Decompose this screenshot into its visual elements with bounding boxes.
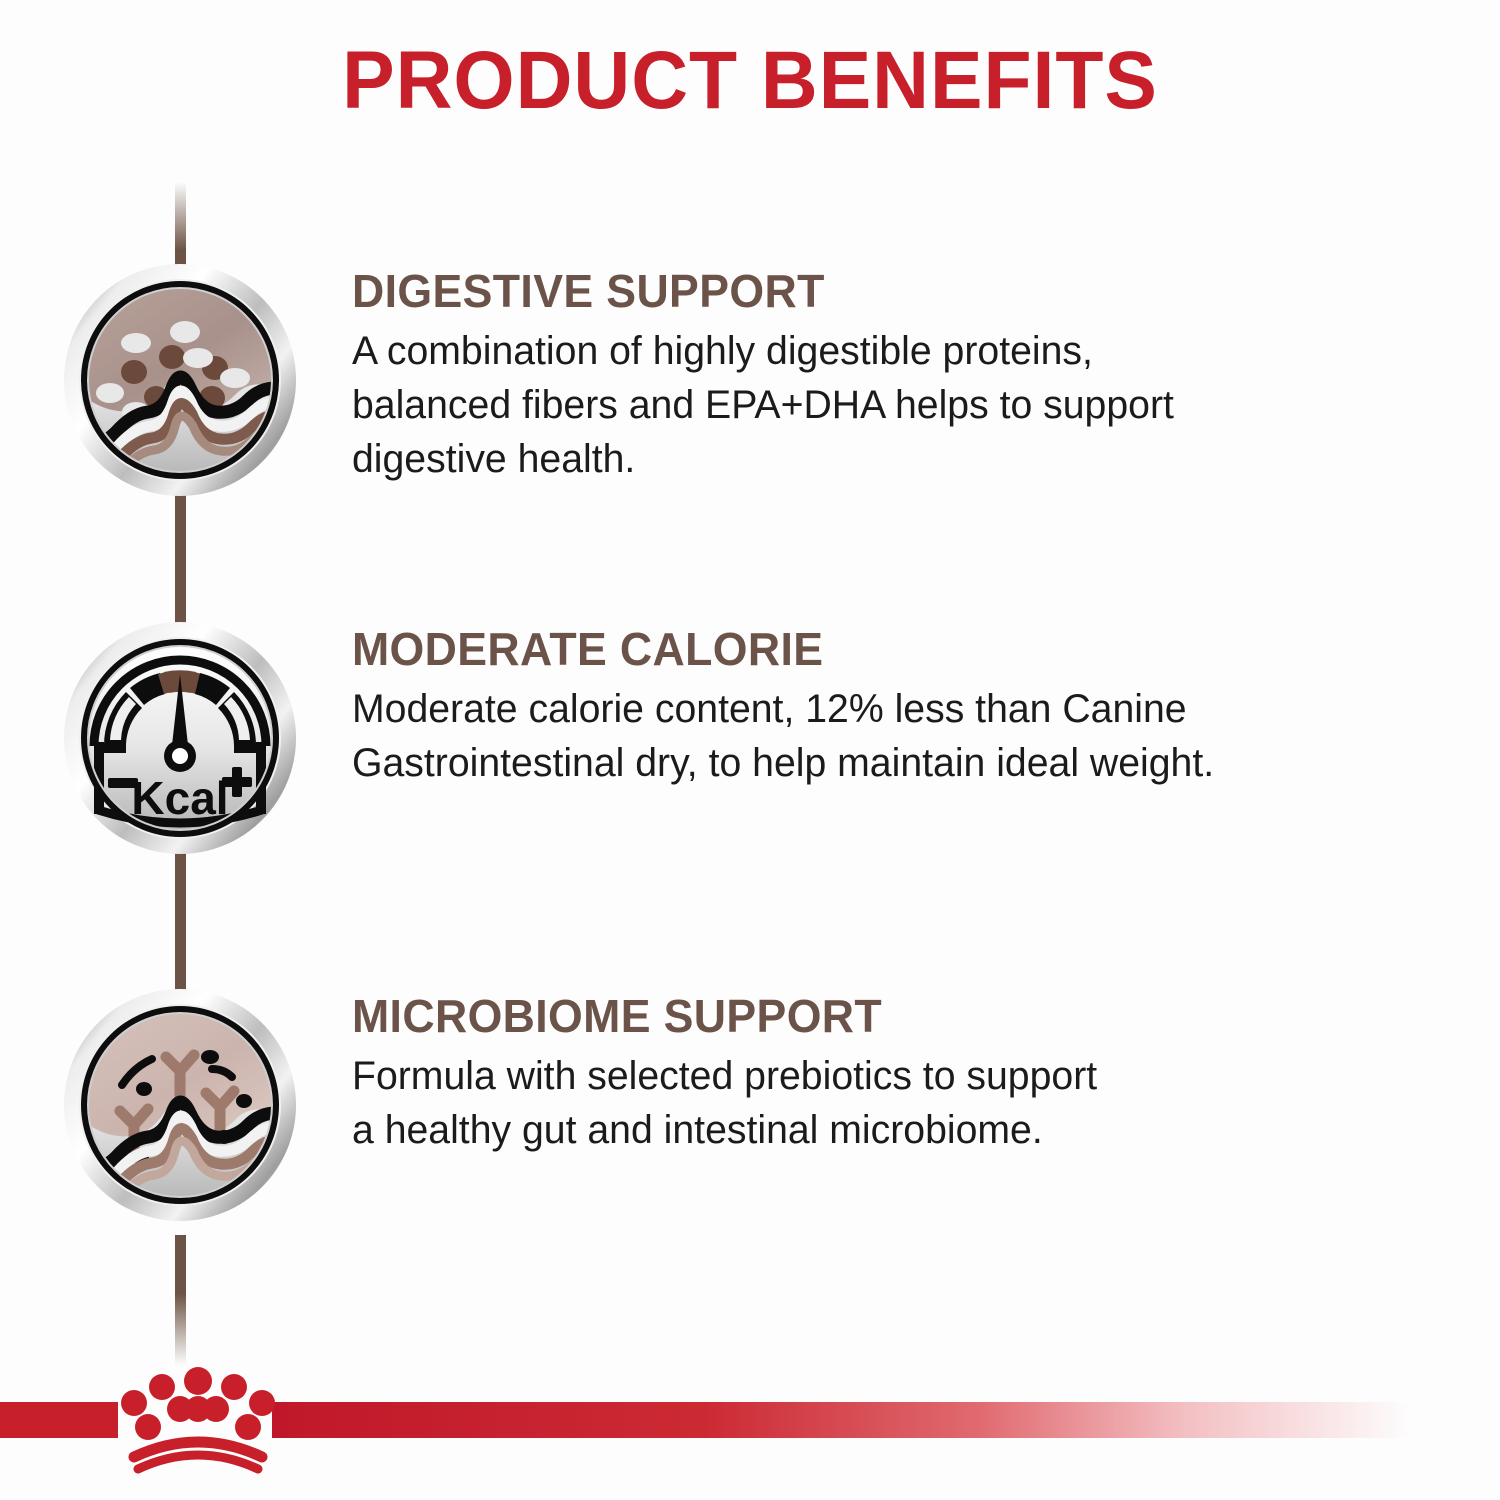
footer-bar-right — [272, 1402, 1412, 1438]
microbiome-support-icon — [60, 985, 300, 1225]
benefit-row-calorie: Kcal MODERATE CALORIE Moderate calorie c… — [0, 618, 1500, 858]
benefit-body: Moderate calorie content, 12% less than … — [352, 682, 1410, 790]
benefit-title: MODERATE CALORIE — [352, 624, 1400, 674]
benefit-row-microbiome: MICROBIOME SUPPORT Formula with selected… — [0, 985, 1500, 1225]
benefit-body-line: Moderate calorie content, 12% less than … — [352, 682, 1410, 736]
digestive-support-icon — [60, 260, 300, 500]
royal-canin-crown-logo — [108, 1365, 288, 1477]
benefit-body-line: A combination of highly digestible prote… — [352, 324, 1410, 378]
benefit-text-digestive: DIGESTIVE SUPPORT A combination of highl… — [352, 266, 1432, 486]
benefit-row-digestive: DIGESTIVE SUPPORT A combination of highl… — [0, 260, 1500, 500]
benefit-body-line: a healthy gut and intestinal microbiome. — [352, 1103, 1410, 1157]
benefit-body: Formula with selected prebiotics to supp… — [352, 1049, 1410, 1157]
connector-line-bottom — [175, 1235, 186, 1365]
svg-text:Kcal: Kcal — [131, 772, 228, 824]
benefit-body-line: Formula with selected prebiotics to supp… — [352, 1049, 1410, 1103]
moderate-calorie-icon: Kcal — [60, 618, 300, 858]
benefit-text-calorie: MODERATE CALORIE Moderate calorie conten… — [352, 624, 1432, 790]
benefit-body: A combination of highly digestible prote… — [352, 324, 1410, 486]
benefit-body-line: digestive health. — [352, 432, 1410, 486]
benefit-text-microbiome: MICROBIOME SUPPORT Formula with selected… — [352, 991, 1432, 1157]
benefit-title: DIGESTIVE SUPPORT — [352, 266, 1400, 316]
benefit-title: MICROBIOME SUPPORT — [352, 991, 1400, 1041]
page-title: PRODUCT BENEFITS — [30, 34, 1470, 128]
footer — [0, 1402, 1500, 1500]
infographic-page: PRODUCT BENEFITS — [0, 0, 1500, 1500]
footer-bar-left — [0, 1402, 118, 1438]
benefit-body-line: Gastrointestinal dry, to help maintain i… — [352, 736, 1410, 790]
benefit-body-line: balanced fibers and EPA+DHA helps to sup… — [352, 378, 1410, 432]
